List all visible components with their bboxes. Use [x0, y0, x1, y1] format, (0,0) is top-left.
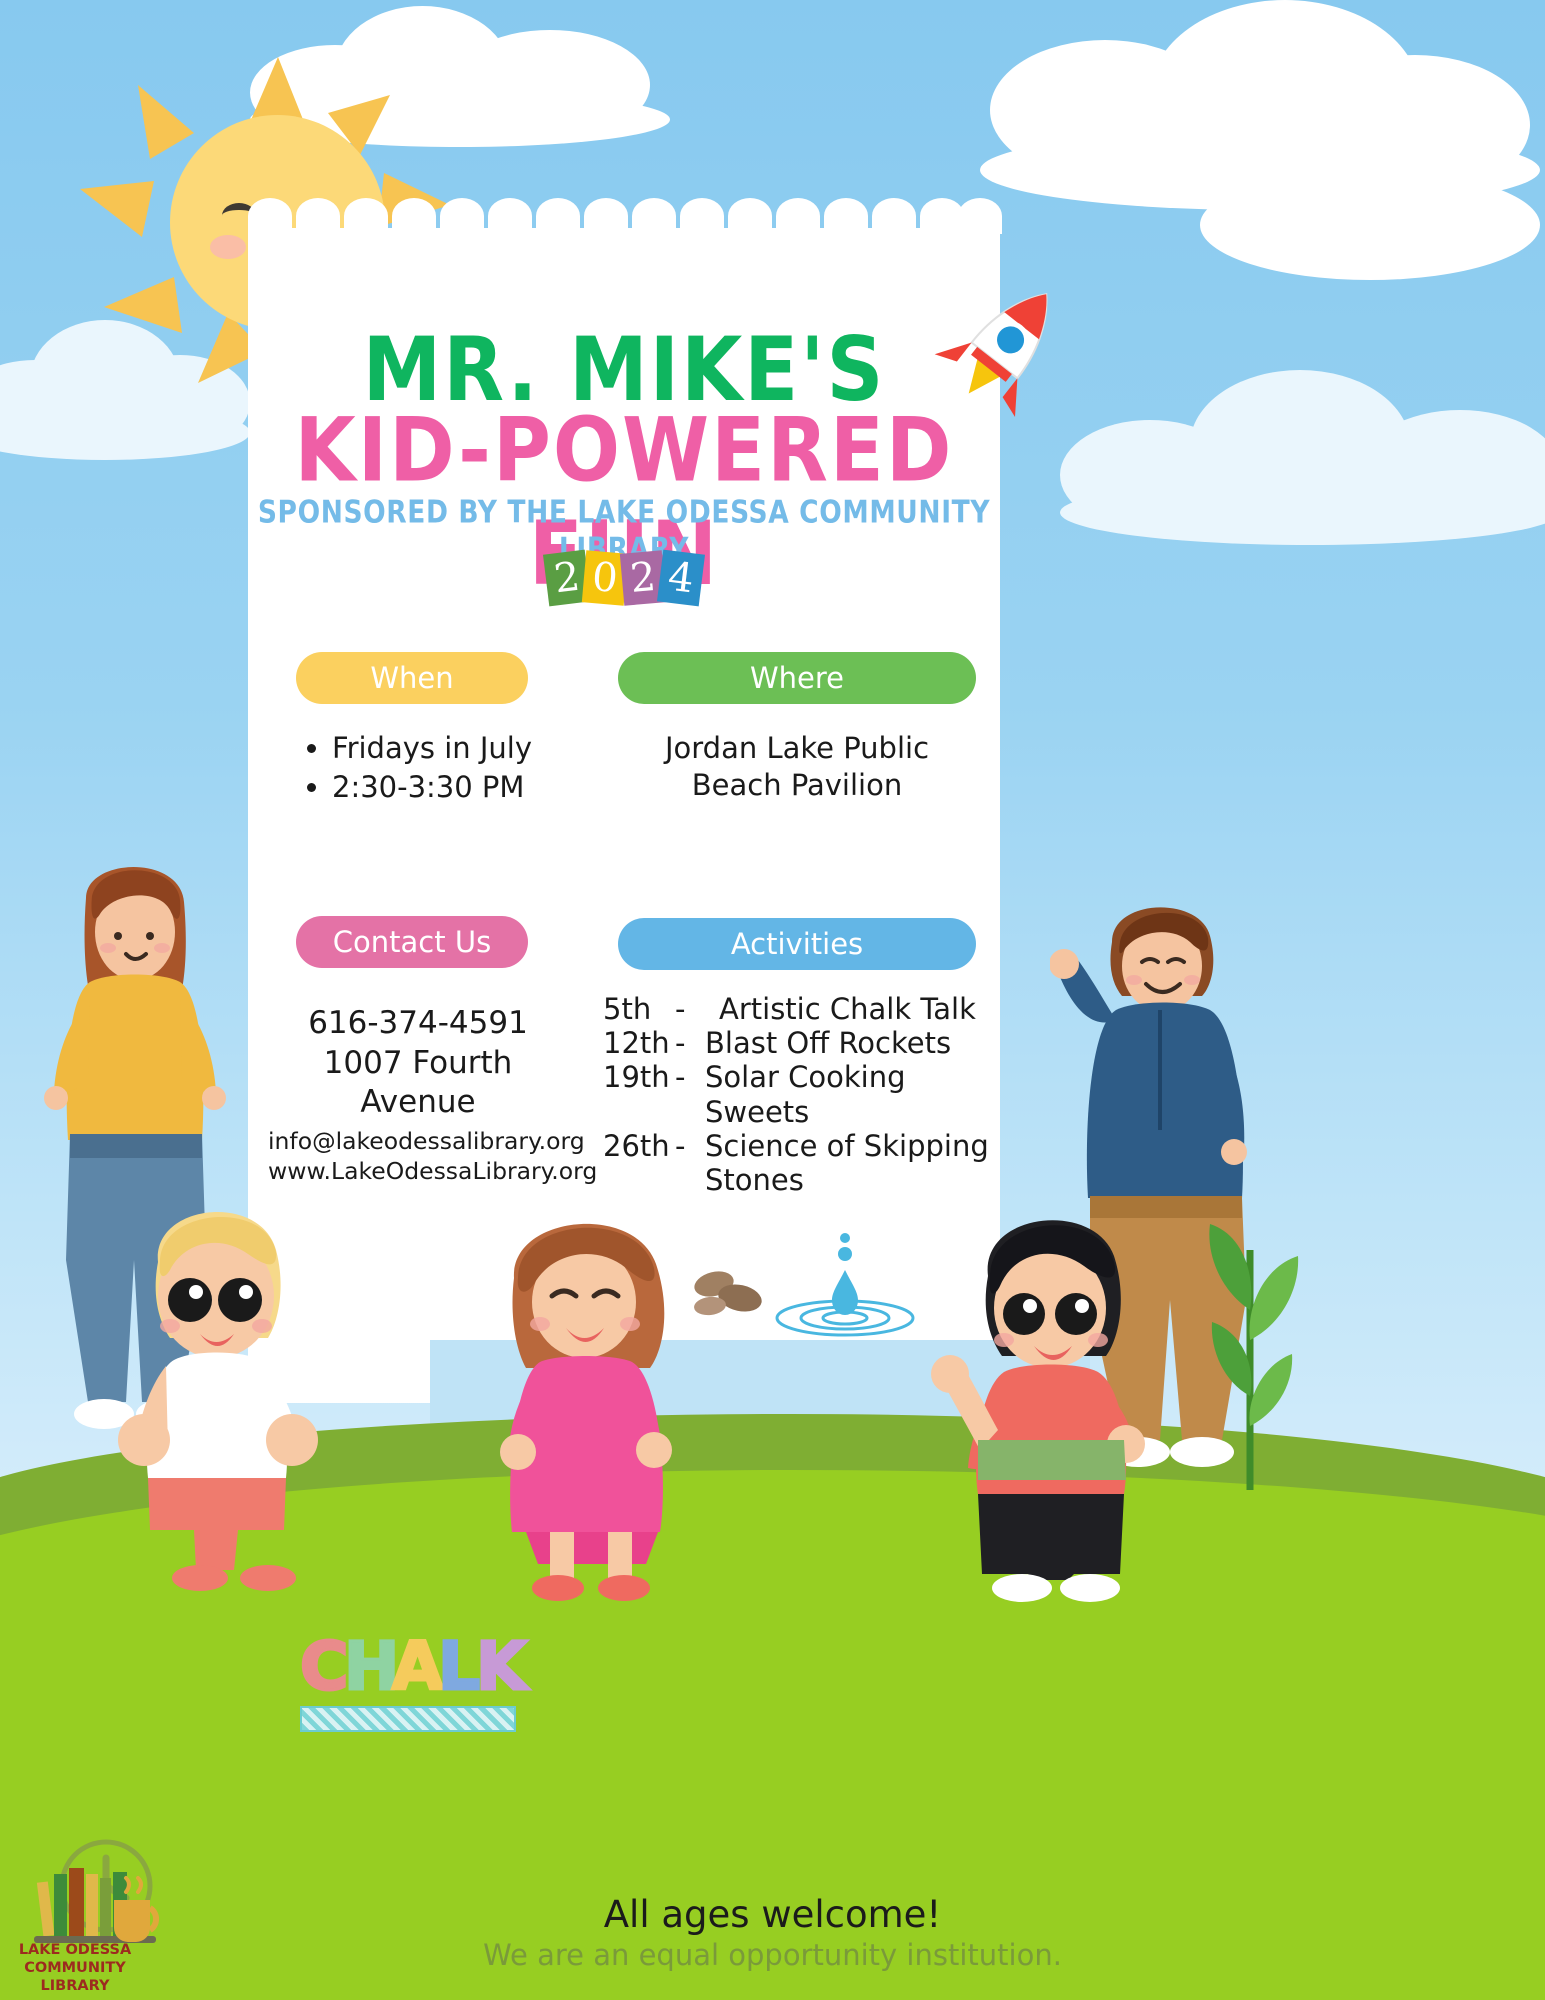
activity-day: 19th: [603, 1060, 675, 1094]
child-blond-illustration: [100, 1178, 330, 1598]
where-line: Beach Pavilion: [618, 767, 976, 804]
activity-item: 12th - Blast Off Rockets: [603, 1026, 1003, 1060]
activity-item: 19th-Solar Cooking Sweets: [603, 1060, 1003, 1128]
activity-name: Blast Off Rockets: [705, 1026, 951, 1060]
chalk-letter: K: [476, 1628, 527, 1705]
water-ripple-icon: [770, 1230, 920, 1350]
contact-pill[interactable]: Contact Us: [296, 916, 528, 968]
contact-content: 616-374-4591 1007 Fourth Avenue info@lak…: [268, 1004, 568, 1186]
logo-line-3: LIBRARY: [0, 1978, 150, 1994]
where-line: Jordan Lake Public: [618, 730, 976, 767]
where-content: Jordan Lake Public Beach Pavilion: [618, 730, 976, 804]
plant-decoration: [1180, 1190, 1320, 1490]
activities-content: 5th - Artistic Chalk Talk 12th - Blast O…: [603, 992, 1003, 1197]
year-badge: 2 0 2 4: [248, 552, 1000, 604]
when-pill-label: When: [370, 661, 453, 695]
activity-dash: -: [675, 1129, 705, 1163]
activity-name: Science of Skipping Stones: [705, 1129, 995, 1197]
info-grid: When Where Fridays in July 2:30-3:30 PM …: [248, 632, 1000, 1232]
paper-scalloped-edge: [248, 198, 1000, 232]
activity-item: 5th - Artistic Chalk Talk: [603, 992, 1003, 1026]
activity-day: 26th: [603, 1129, 675, 1163]
activity-day: 5th: [603, 992, 675, 1026]
where-pill[interactable]: Where: [618, 652, 976, 704]
info-row-when-where: When Where Fridays in July 2:30-3:30 PM …: [248, 632, 1000, 892]
when-content: Fridays in July 2:30-3:30 PM: [306, 730, 606, 808]
poster-canvas: MR. MIKE'S KID-POWERED FUN SPONSORED BY …: [0, 0, 1545, 2000]
when-item: 2:30-3:30 PM: [332, 769, 606, 806]
chalk-letter: A: [392, 1628, 443, 1705]
where-pill-label: Where: [750, 661, 844, 695]
child-girl-illustration: [488, 1186, 688, 1606]
contact-email[interactable]: info@lakeodessalibrary.org: [268, 1126, 568, 1156]
activity-name: Solar Cooking Sweets: [705, 1060, 995, 1128]
contact-phone[interactable]: 616-374-4591: [268, 1004, 568, 1044]
when-item: Fridays in July: [332, 730, 606, 767]
chalk-letter: L: [438, 1628, 480, 1705]
when-pill[interactable]: When: [296, 652, 528, 704]
chalk-letter: H: [344, 1628, 399, 1705]
chalk-underline-bar: [300, 1706, 516, 1732]
contact-address: 1007 Fourth Avenue: [268, 1044, 568, 1123]
equal-opportunity-text: We are an equal opportunity institution.: [0, 1938, 1545, 1972]
activities-pill-label: Activities: [731, 927, 863, 961]
activity-dash: -: [675, 1026, 705, 1060]
year-tile-3: 4: [657, 550, 705, 607]
contact-pill-label: Contact Us: [333, 925, 491, 959]
activity-name: Artistic Chalk Talk: [705, 992, 976, 1026]
child-boy-illustration: [930, 1190, 1150, 1610]
activity-day: 12th: [603, 1026, 675, 1060]
stones-icon: [690, 1268, 770, 1318]
activity-dash: -: [675, 992, 705, 1026]
info-row-contact-activities: Contact Us Activities 616-374-4591 1007 …: [248, 892, 1000, 1232]
activity-dash: -: [675, 1060, 705, 1094]
all-ages-welcome-text: All ages welcome!: [0, 1893, 1545, 1936]
activities-pill[interactable]: Activities: [618, 918, 976, 970]
cloud-right-mid: [1060, 350, 1545, 550]
chalk-letter: C: [300, 1628, 348, 1705]
